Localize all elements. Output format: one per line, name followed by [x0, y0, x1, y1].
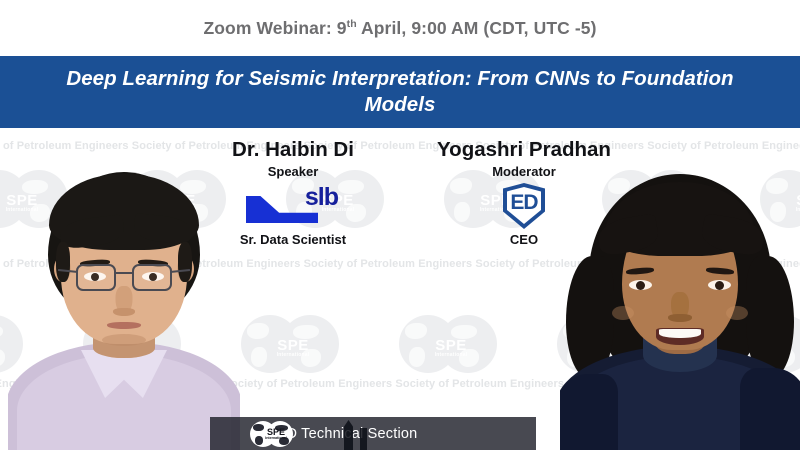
- moderator-company-logo: ED: [414, 182, 634, 230]
- event-datetime-text: Zoom Webinar: 9th April, 9:00 AM (CDT, U…: [203, 18, 596, 39]
- moderator-role: Moderator: [414, 164, 634, 179]
- moderator-job-title: CEO: [414, 232, 634, 247]
- slb-logo-icon: slb: [246, 185, 340, 227]
- spe-globe-icon: SPEInternational: [241, 315, 343, 377]
- webinar-poster: Society of Petroleum Engineers Society o…: [0, 0, 800, 450]
- webinar-title: Deep Learning for Seismic Interpretation…: [40, 66, 760, 118]
- eyeglasses-icon: [76, 264, 116, 291]
- speaker-name: Dr. Haibin Di: [183, 138, 403, 162]
- slb-wordmark: slb: [305, 185, 338, 210]
- speaker-role: Speaker: [183, 164, 403, 179]
- footer-logo-initials: SPE: [267, 428, 285, 436]
- webinar-title-bar: Deep Learning for Seismic Interpretation…: [0, 56, 800, 128]
- spe-globe-icon: SPE International: [250, 421, 302, 447]
- event-banner: Zoom Webinar: 9th April, 9:00 AM (CDT, U…: [0, 0, 800, 56]
- banner-suffix: April, 9:00 AM (CDT, UTC -5): [357, 18, 597, 38]
- speaker-company-logo: slb: [183, 182, 403, 230]
- banner-ordinal: th: [347, 18, 357, 30]
- moderator-info-block: Yogashri Pradhan Moderator ED CEO: [414, 138, 634, 247]
- moderator-name: Yogashri Pradhan: [414, 138, 634, 162]
- ed-shield-letters: ED: [503, 183, 545, 229]
- footer-bar: SPE International R&D Technical Section: [210, 417, 536, 450]
- title-line-1: Deep Learning for Seismic Interpretation…: [66, 67, 615, 90]
- banner-prefix: Zoom Webinar: 9: [203, 18, 346, 38]
- ed-shield-icon: ED: [503, 183, 545, 229]
- spe-globe-icon: SPEInternational: [399, 315, 501, 377]
- speaker-info-block: Dr. Haibin Di Speaker slb Sr. Data Scien…: [183, 138, 403, 247]
- speaker-job-title: Sr. Data Scientist: [183, 232, 403, 247]
- footer-logo-sub: International: [265, 436, 287, 440]
